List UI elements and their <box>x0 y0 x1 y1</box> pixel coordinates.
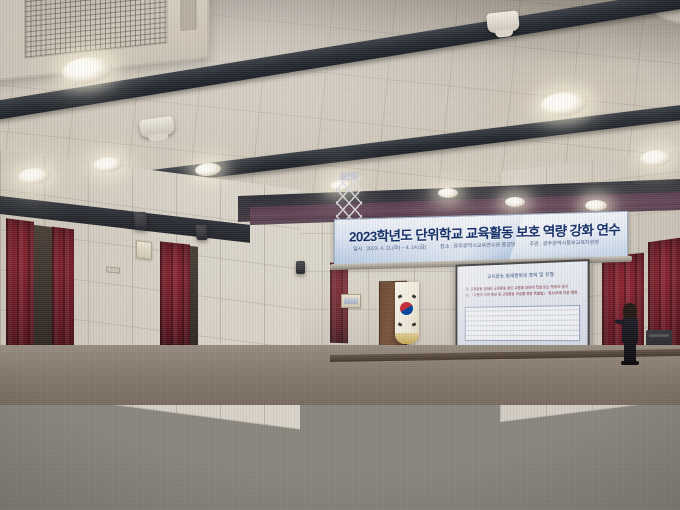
seat-row <box>0 330 680 510</box>
banner-subtitle-place: 장소 : 광주광역시교육연수원 중강당 <box>440 241 515 250</box>
wall-notice-frame <box>341 294 361 308</box>
wall-sign <box>136 240 152 260</box>
lecture-hall-photo: 2023학년도 단위학교 교육활동 보호 역량 강화 연수 일시 : 2023.… <box>0 0 680 510</box>
presenter-hair <box>623 303 637 319</box>
audience-seating-area <box>0 330 680 510</box>
wall-speaker-icon <box>195 225 207 240</box>
ac-vent-slot <box>181 0 197 32</box>
slide-body: 가. 교육활동 침해란 교육활동 중인 교원에 대하여 학생 또는 학부모 등이… <box>466 284 579 299</box>
trigram <box>398 294 403 299</box>
presenter-arm <box>615 319 626 325</box>
ceiling-downlight <box>505 197 525 207</box>
slide-title: 교육활동 침해행위의 정의 및 유형 <box>457 271 587 282</box>
trigram <box>412 322 417 327</box>
banner-subtitle-date: 일시 : 2023. 4. 11.(화) ~ 4. 14.(금) <box>353 244 426 253</box>
ceiling-downlight <box>438 188 458 198</box>
trigram <box>412 294 417 299</box>
wall-speaker-icon <box>133 212 148 230</box>
banner-subtitle-host: 주관 : 광주광역시동부교육지원청 <box>529 239 598 248</box>
wall-speaker-icon <box>296 261 305 274</box>
trigram <box>398 322 403 327</box>
smoke-detector-icon <box>486 10 520 33</box>
taeguk-symbol <box>400 302 413 315</box>
ac-grille <box>25 0 168 59</box>
ceiling-downlight <box>585 200 607 211</box>
